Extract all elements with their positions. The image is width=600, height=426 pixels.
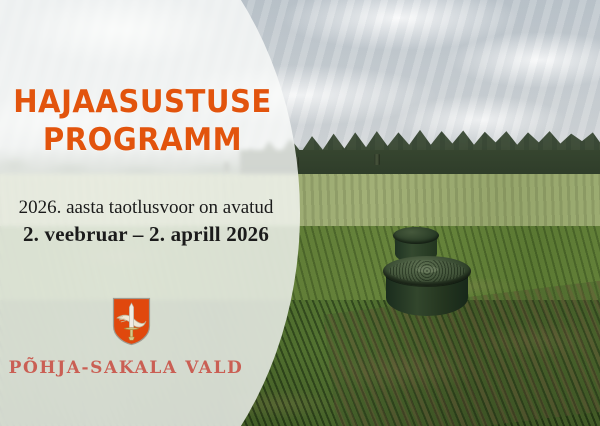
page-title-line-2: PROGRAMM: [9, 122, 277, 160]
poster-canvas: HAJAASUSTUSE PROGRAMM 2026. aasta taotlu…: [0, 0, 600, 426]
tank-small-lid: [393, 227, 439, 244]
page-title-line-1: HAJAASUSTUSE: [9, 84, 277, 122]
subtitle-block: 2026. aasta taotlusvoor on avatud 2. vee…: [0, 196, 292, 248]
shield-icon: [112, 297, 151, 346]
page-title: HAJAASUSTUSE PROGRAMM: [9, 84, 277, 160]
municipality-name: PÕHJA-SAKALA VALD: [0, 358, 252, 378]
field-marker-post: [374, 154, 380, 165]
coat-of-arms: [112, 297, 151, 346]
subtitle-line-1: 2026. aasta taotlusvoor: [19, 197, 195, 218]
application-period-dates: 2. veebruar – 2. aprill 2026: [0, 222, 292, 248]
tank-large-lid-hub: [416, 266, 438, 273]
septic-tank-lid-large: [383, 256, 471, 318]
subtitle-line-2: on avatud: [199, 197, 273, 218]
tank-large-lid: [383, 256, 471, 286]
